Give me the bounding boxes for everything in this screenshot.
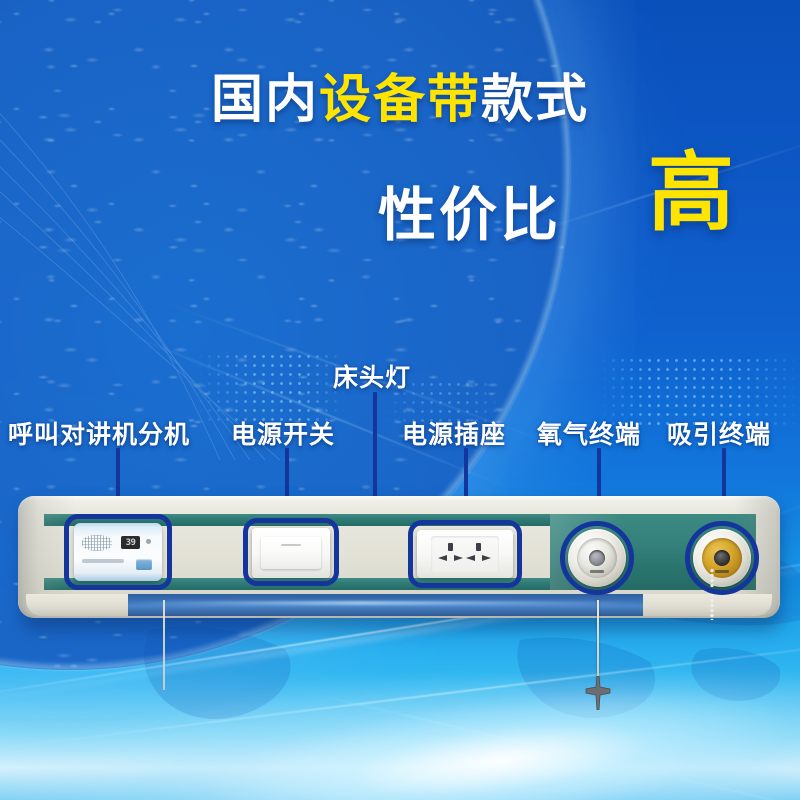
callout-label-power-switch: 电源开关	[231, 415, 335, 451]
callout-label-bedside-lamp: 床头灯	[333, 358, 411, 394]
lamp-pull-cord[interactable]	[597, 600, 599, 684]
headline-line-2: 性价比	[378, 168, 561, 252]
halftone-dots-left	[196, 352, 346, 424]
highlight-box-intercom	[64, 514, 172, 590]
highlight-circle-suction	[685, 521, 759, 595]
callout-label-intercom: 呼叫对讲机分机	[8, 415, 190, 451]
headline-line-2-wrap: 性价比 高	[0, 160, 800, 250]
pull-cord-weight-icon[interactable]	[584, 676, 612, 710]
highlight-circle-oxygen	[560, 521, 634, 595]
panel-blue-reflector	[128, 594, 643, 616]
headline-segment-3: 款式	[481, 74, 589, 126]
headline-line-1: 国内设备带款式	[0, 74, 800, 126]
headline-emphasis: 高	[648, 150, 734, 236]
callout-label-power-socket: 电源插座	[402, 415, 506, 451]
headline-segment-2: 设备带	[319, 74, 481, 126]
callout-label-oxygen: 氧气终端	[537, 415, 641, 451]
headline-block: 国内设备带款式 性价比 高	[0, 74, 800, 126]
highlight-box-power-switch	[243, 518, 339, 586]
secondary-cord	[163, 600, 165, 690]
callout-label-suction: 吸引终端	[667, 415, 771, 451]
highlight-box-power-socket	[408, 520, 522, 588]
headline-segment-1: 国内	[211, 74, 319, 126]
poster-canvas: 国内设备带款式 性价比 高 呼叫对讲机分机 电源开关 床头灯 电源插座 氧气终端…	[0, 0, 800, 800]
